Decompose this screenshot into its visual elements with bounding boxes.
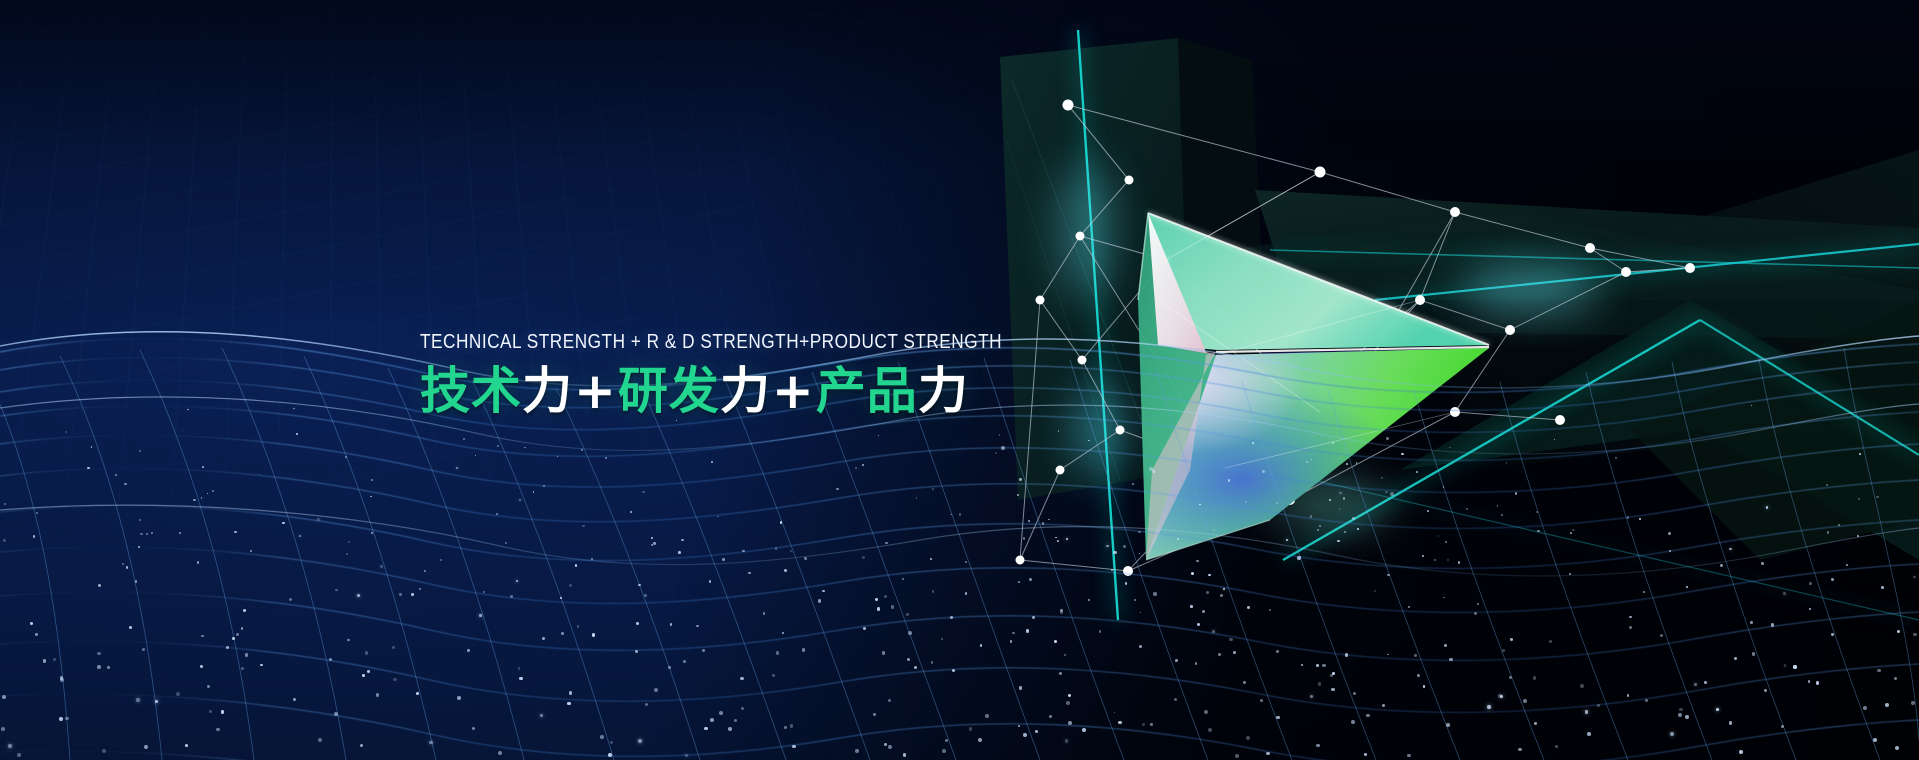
headline-segment-rnd-power: 力 [720, 362, 771, 420]
headline-segment-product: 产品 [816, 362, 918, 420]
headline-segment-rnd: 研发 [618, 362, 720, 420]
headline-english: TECHNICAL STRENGTH + R & D STRENGTH+PROD… [420, 330, 953, 354]
headline-block: TECHNICAL STRENGTH + R & D STRENGTH+PROD… [420, 330, 1040, 422]
hero-banner: TECHNICAL STRENGTH + R & D STRENGTH+PROD… [0, 0, 1919, 760]
headline-plus-one: + [573, 362, 618, 420]
headline-segment-tech: 技术 [420, 362, 522, 420]
headline-chinese: 技术力+研发力+产品力 [420, 360, 1040, 422]
headline-plus-two: + [771, 362, 816, 420]
headline-segment-tech-power: 力 [522, 362, 573, 420]
headline-segment-product-power: 力 [918, 362, 969, 420]
